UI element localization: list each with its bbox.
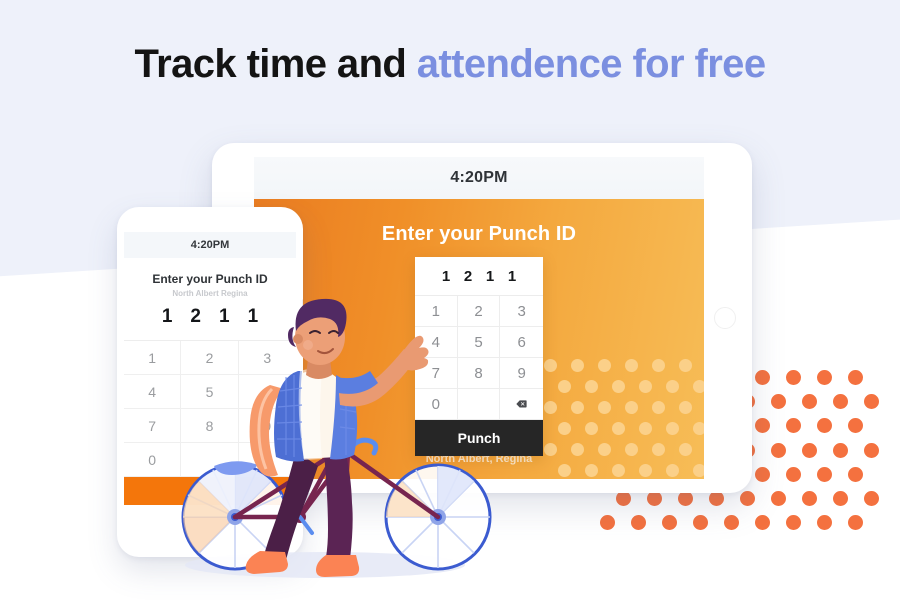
pattern-dot — [724, 515, 739, 530]
headline-part-two: attendence for free — [417, 42, 766, 86]
pattern-dot — [598, 359, 611, 372]
keypad-key-1[interactable]: 1 — [124, 341, 181, 375]
pattern-dot — [755, 370, 770, 385]
pattern-dot — [848, 467, 863, 482]
pattern-dot — [755, 467, 770, 482]
keypad-key-8[interactable]: 8 — [181, 409, 238, 443]
pattern-dot — [833, 443, 848, 458]
tablet-punch-id-display: 1211 — [415, 257, 543, 295]
pattern-dot — [600, 515, 615, 530]
pattern-dot — [612, 422, 625, 435]
phone-display-digit: 1 — [248, 306, 259, 328]
phone-device: 4:20PM Enter your Punch ID North Albert … — [117, 207, 303, 557]
pattern-dot — [625, 359, 638, 372]
pattern-dot — [598, 401, 611, 414]
keypad-key-6[interactable]: 6 — [500, 327, 543, 358]
tablet-keypad-grid[interactable]: 1234567890 — [415, 295, 543, 420]
tablet-status-bar: 4:20PM — [254, 157, 704, 199]
pattern-dot — [864, 443, 879, 458]
phone-display-digit: 1 — [162, 306, 173, 328]
pattern-dot — [612, 464, 625, 477]
keypad-key-blank — [458, 389, 501, 420]
phone-footer-area — [124, 505, 296, 532]
keypad-key-5[interactable]: 5 — [458, 327, 501, 358]
keypad-key-3[interactable]: 3 — [239, 341, 296, 375]
keypad-key-blank — [181, 443, 238, 477]
pattern-dot — [639, 380, 652, 393]
pattern-dot — [662, 515, 677, 530]
keypad-key-8[interactable]: 8 — [458, 358, 501, 389]
phone-display-digit: 1 — [219, 306, 230, 328]
pattern-dot — [639, 422, 652, 435]
keypad-key-1[interactable]: 1 — [415, 296, 458, 327]
pattern-dot — [817, 370, 832, 385]
tablet-display-digit: 1 — [506, 268, 518, 285]
keypad-key-5[interactable]: 5 — [181, 375, 238, 409]
pattern-dot — [786, 515, 801, 530]
keypad-key-0[interactable]: 0 — [124, 443, 181, 477]
keypad-key-backspace[interactable] — [239, 443, 296, 477]
tablet-clock: 4:20PM — [450, 169, 507, 187]
pattern-dot — [612, 380, 625, 393]
pattern-dot — [771, 491, 786, 506]
pattern-dot — [833, 394, 848, 409]
pattern-dot — [571, 401, 584, 414]
phone-header: Enter your Punch ID North Albert Regina — [124, 258, 296, 298]
pattern-dot — [585, 380, 598, 393]
keypad-key-backspace[interactable] — [500, 389, 543, 420]
page-title: Track time and attendence for free — [0, 40, 900, 88]
pattern-dot — [771, 394, 786, 409]
tablet-display-digit: 2 — [462, 268, 474, 285]
pattern-dot — [848, 515, 863, 530]
pattern-dot — [558, 464, 571, 477]
phone-prompt-title: Enter your Punch ID — [124, 272, 296, 286]
pattern-dot — [585, 464, 598, 477]
keypad-key-2[interactable]: 2 — [458, 296, 501, 327]
pattern-dot — [625, 401, 638, 414]
keypad-key-0[interactable]: 0 — [415, 389, 458, 420]
keypad-key-3[interactable]: 3 — [500, 296, 543, 327]
tablet-display-digit: 1 — [484, 268, 496, 285]
tablet-punch-button[interactable]: Punch — [415, 420, 543, 456]
pattern-dot — [647, 491, 662, 506]
pattern-dot — [679, 401, 692, 414]
pattern-dot — [585, 422, 598, 435]
pattern-dot — [544, 359, 557, 372]
headline-part-one: Track time and — [135, 42, 417, 86]
phone-screen: 4:20PM Enter your Punch ID North Albert … — [124, 232, 296, 532]
pattern-dot — [678, 491, 693, 506]
keypad-key-9[interactable]: 9 — [500, 358, 543, 389]
pattern-dot — [833, 491, 848, 506]
pattern-dot — [802, 491, 817, 506]
keypad-key-2[interactable]: 2 — [181, 341, 238, 375]
pattern-dot — [693, 515, 708, 530]
pattern-dot — [864, 491, 879, 506]
promo-banner: Track time and attendence for free 4:20P… — [0, 0, 900, 600]
pattern-dot — [802, 394, 817, 409]
pattern-dot — [786, 418, 801, 433]
pattern-dot — [666, 380, 679, 393]
tablet-app-body: Enter your Punch ID 1211 1234567890 Punc… — [254, 199, 704, 479]
keypad-key-7[interactable]: 7 — [415, 358, 458, 389]
pattern-dot — [679, 359, 692, 372]
phone-display-digit: 2 — [190, 306, 201, 328]
pattern-dot — [848, 418, 863, 433]
tablet-screen: 4:20PM Enter your Punch ID 1211 12345678… — [254, 157, 704, 479]
keypad-key-9[interactable]: 9 — [239, 409, 296, 443]
pattern-dot — [666, 422, 679, 435]
pattern-dot — [666, 464, 679, 477]
phone-clock: 4:20PM — [191, 239, 230, 251]
pattern-dot — [639, 464, 652, 477]
pattern-dot — [771, 443, 786, 458]
tablet-keypad-card: 1211 1234567890 Punch — [415, 257, 543, 456]
pattern-dot — [544, 401, 557, 414]
pattern-dot — [693, 380, 705, 393]
pattern-dot — [817, 418, 832, 433]
pattern-dot — [864, 394, 879, 409]
pattern-dot — [558, 422, 571, 435]
phone-location-label: North Albert Regina — [124, 289, 296, 298]
tablet-prompt-title: Enter your Punch ID — [254, 223, 704, 246]
phone-status-bar: 4:20PM — [124, 232, 296, 258]
phone-side-button[interactable] — [302, 299, 303, 329]
pattern-dot — [571, 359, 584, 372]
keypad-key-4[interactable]: 4 — [124, 375, 181, 409]
backspace-icon[interactable] — [516, 400, 527, 408]
pattern-dot — [755, 515, 770, 530]
pattern-dot — [558, 380, 571, 393]
pattern-dot — [631, 515, 646, 530]
pattern-dot — [786, 370, 801, 385]
home-button-icon[interactable] — [714, 307, 736, 329]
pattern-dot — [848, 370, 863, 385]
pattern-dot — [817, 515, 832, 530]
pattern-dot — [693, 422, 705, 435]
pattern-dot — [817, 467, 832, 482]
phone-punch-button[interactable] — [124, 477, 296, 505]
keypad-key-4[interactable]: 4 — [415, 327, 458, 358]
tablet-display-digit: 1 — [440, 268, 452, 285]
pattern-dot — [652, 401, 665, 414]
pattern-dot — [616, 491, 631, 506]
pattern-dot — [786, 467, 801, 482]
backspace-icon[interactable] — [262, 456, 272, 463]
pattern-dot — [709, 491, 724, 506]
pattern-dot — [740, 491, 755, 506]
pattern-dot — [693, 464, 705, 477]
pattern-dot — [652, 359, 665, 372]
pattern-dot — [755, 418, 770, 433]
keypad-key-7[interactable]: 7 — [124, 409, 181, 443]
pattern-dot — [802, 443, 817, 458]
phone-punch-id-display: 1211 — [124, 298, 296, 340]
phone-keypad-grid[interactable]: 1234567890 — [124, 340, 296, 477]
keypad-key-6[interactable]: 6 — [239, 375, 296, 409]
